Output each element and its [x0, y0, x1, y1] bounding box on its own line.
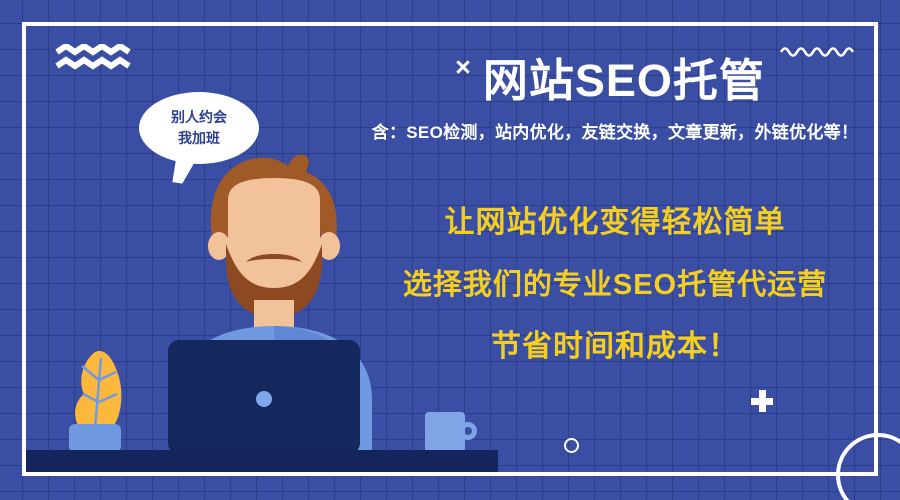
poster-frame-border: [22, 22, 878, 476]
poster-canvas: 别人约会 我加班 ×网站SEO托管 含：SEO检测，站内优化，友链交换，文章更新…: [0, 0, 900, 500]
